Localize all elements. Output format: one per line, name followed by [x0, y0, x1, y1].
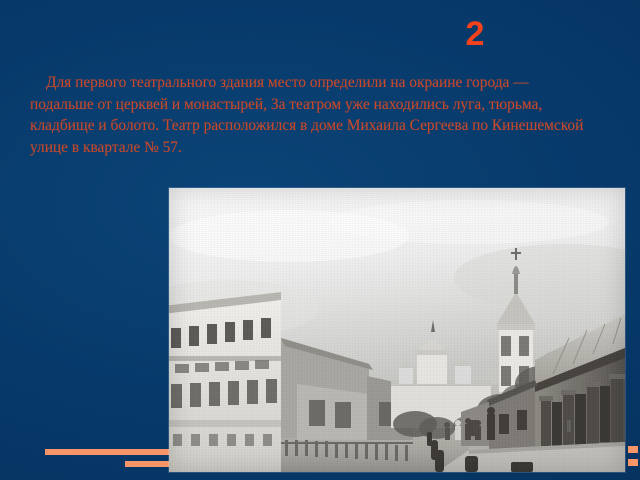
accent-tick-lower	[628, 459, 638, 466]
street-photograph	[169, 188, 625, 472]
accent-bar-long	[45, 449, 170, 455]
slide-body-text: Для первого театрального здания место оп…	[30, 72, 590, 158]
left-building	[169, 292, 281, 472]
accent-tick-upper	[628, 446, 638, 453]
accent-bar-short	[125, 461, 170, 467]
photograph-illustration	[169, 188, 625, 472]
presentation-slide: 2 Для первого театрального здания место …	[0, 0, 640, 480]
slide-number: 2	[0, 14, 640, 54]
